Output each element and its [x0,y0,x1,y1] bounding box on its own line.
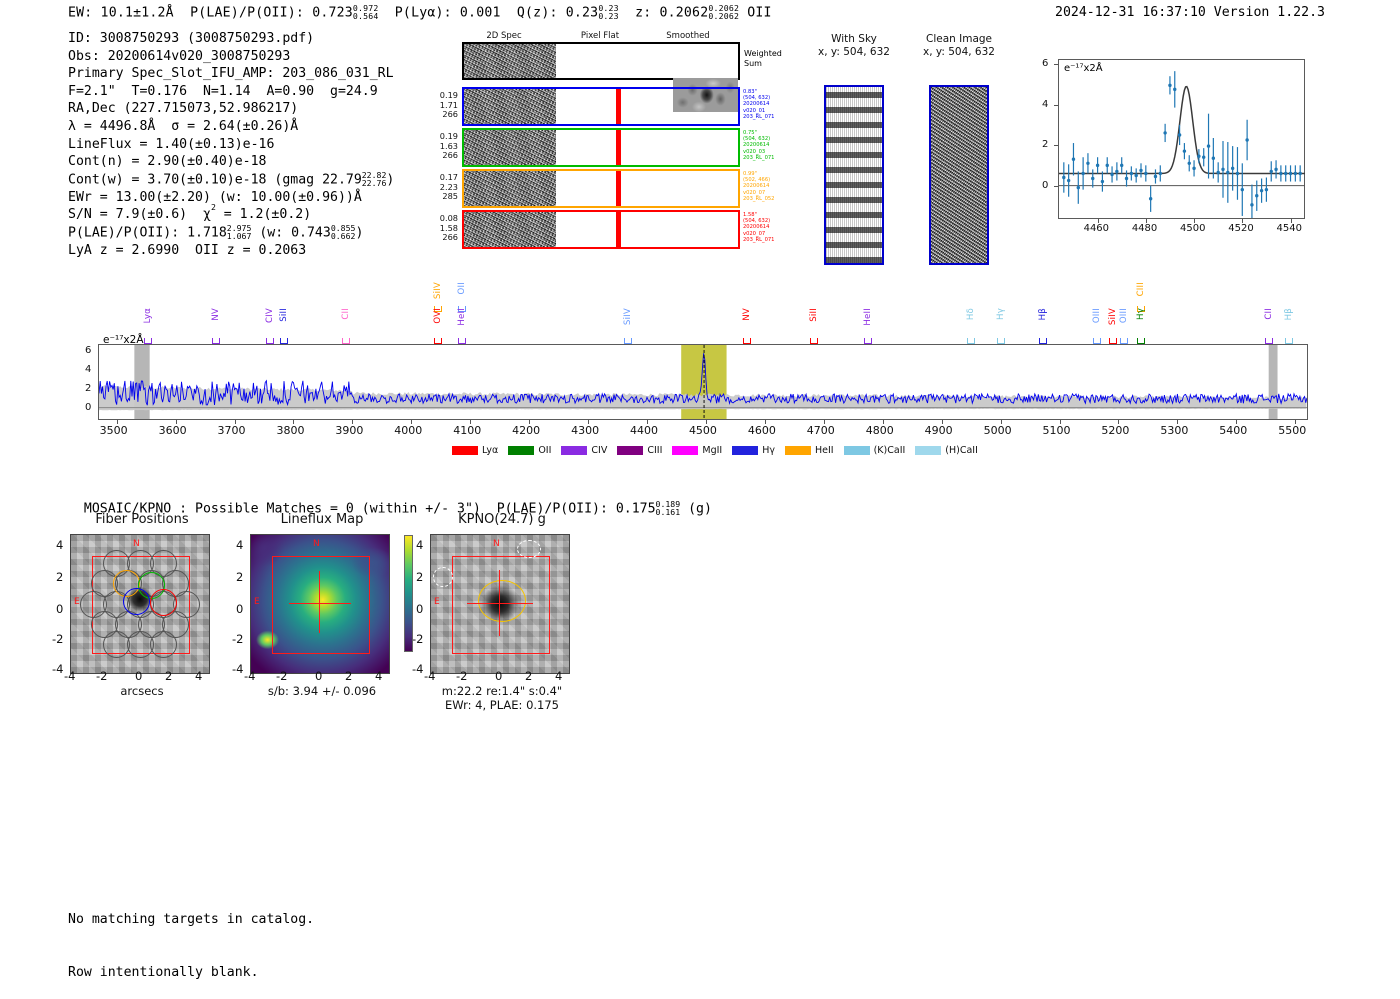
footer-line-2: Row intentionally blank. [68,964,314,982]
spectrum-line-label: Hγ [1136,308,1146,320]
cutout-with-sky: With Sky x, y: 504, 632 [812,33,896,238]
spec2d-col-header-smoothed: Smoothed [648,31,728,41]
spectrum-x-tick: 5300 [1160,424,1188,437]
legend-item: HeII [785,445,834,456]
spectrum-line-label: SiIV [1108,308,1118,325]
fiber-positions-image: N E [70,534,210,674]
spectrum-line-label: OVI [433,308,443,324]
panel-fiber-positions: Fiber Positions N E -4 -2 0 2 4 4 2 0 -2… [52,512,232,527]
spec2d-row-values: 0.191.63266 [430,132,458,161]
zoom-x-tickmark [1146,219,1147,223]
row-red-marker [616,89,621,124]
fiber-x-tick-4: 4 [195,669,202,683]
spec2d-fiber-row: 0.191.712660.83" (504, 632) 20200614 v02… [430,87,760,128]
fiber-xlabel: arcsecs [52,684,232,698]
lineflux-colorbar [404,535,413,652]
legend-item: (H)CaII [915,445,978,456]
lf-x-tick--4: -4 [244,669,255,683]
spectrum-x-tickmark [1060,420,1061,424]
legend-item: Hγ [732,445,775,456]
row-2dspec [464,89,556,124]
spectrum-x-tick: 4200 [512,424,540,437]
spec2d-row-metadata: 0.83" (504, 632) 20200614 v020_01 203_RL… [743,89,775,120]
legend-swatch [508,446,534,455]
spectrum-line-label: SiIV [433,282,443,299]
spectrum-x-tickmark [706,420,707,424]
emission-line-zoom-plot: e⁻¹⁷x2Å 0246 44604480450045204540 [1040,55,1305,255]
fiber-circle-highlighted [150,589,177,616]
legend-swatch [452,446,478,455]
legend-swatch [617,446,643,455]
spectrum-x-tickmark [235,420,236,424]
kpno-x-tick-2: 2 [525,669,532,683]
spectrum-line-label: OII [457,282,467,294]
spectrum-x-tickmark [117,420,118,424]
legend-swatch [915,446,941,455]
spectrum-x-tick: 3800 [276,424,304,437]
row-pixelflat [556,165,673,167]
spectrum-x-tickmark [588,420,589,424]
kpno-mask-ellipse-1 [517,540,541,558]
param-id: ID: 3008750293 (3008750293.pdf) [68,30,394,48]
kpno-aperture-ellipse [478,580,526,622]
kpno-y-tick--4: -4 [412,662,423,676]
fiber-positions-title: Fiber Positions [52,512,232,527]
cutout-clean-image-img [929,85,989,265]
fiber-y-tick-4: 4 [56,538,63,552]
cutout-clean-title: Clean Image [914,33,1004,46]
fiber-y-tick--4: -4 [52,662,63,676]
legend-label: HeII [815,445,834,456]
row-white-gap [630,89,634,124]
kpno-mask-ellipse-2 [433,567,453,587]
spectrum-x-tickmark [1118,420,1119,424]
weighted-sum-2dspec [464,44,556,78]
row-pixelflat [556,206,673,208]
header-plae-poii-range: 0.9720.564 [353,4,379,21]
kpno-cross-v [499,570,500,636]
weighted-sum-strip [462,42,740,80]
legend-label: CIV [591,445,607,456]
header-z: z: 0.2062 [635,5,708,20]
fiber-x-tick--4: -4 [64,669,75,683]
param-lineflux: LineFlux = 1.40(±0.13)e-16 [68,136,394,154]
spectrum-x-tick: 4300 [571,424,599,437]
compass-e-lineflux: E [254,597,260,607]
kpno-y-tick-2: 2 [416,570,423,584]
weighted-sum-pixelflat [556,44,673,78]
legend-swatch [732,446,758,455]
lf-x-tick-0: 0 [315,669,322,683]
compass-e-kpno: E [434,597,440,607]
fiber-circle [103,631,130,658]
spec2d-col-header-pixelflat: Pixel Flat [560,31,640,41]
lf-y-tick--4: -4 [232,662,243,676]
spectrum-x-tickmark [765,420,766,424]
spectrum-line-label: Hγ [996,308,1006,320]
lineflux-redbox [272,556,370,654]
spec2d-row-values: 0.191.71266 [430,91,458,120]
kpno-x-tick-4: 4 [555,669,562,683]
legend-label: (K)CaII [874,445,906,456]
zoom-y-tick: 0 [1042,180,1048,191]
lf-x-tick--2: -2 [276,669,287,683]
compass-n-lineflux: N [313,539,320,549]
legend-item: OII [508,445,551,456]
spec2d-row-value: 285 [430,192,458,202]
fiber-x-tick-2: 2 [165,669,172,683]
row-white-gap [630,212,634,247]
param-lambda-sigma: λ = 4496.8Å σ = 2.64(±0.26)Å [68,118,394,136]
spectrum-x-tick: 4800 [866,424,894,437]
spectrum-x-tick: 4600 [748,424,776,437]
legend-item: CIV [561,445,607,456]
spectrum-x-tickmark [470,420,471,424]
zoom-y-tickmark [1054,186,1058,187]
spectrum-line-label: CIII [1136,282,1146,296]
spectrum-y-tick: 2 [85,383,91,394]
spectrum-x-tickmark [529,420,530,424]
spectrum-x-tick: 3700 [218,424,246,437]
header-plya: P(Lyα): 0.001 [395,5,501,20]
legend-label: MgII [702,445,722,456]
zoom-x-tick: 4480 [1132,223,1157,234]
fiber-y-tick--2: -2 [52,632,63,646]
kpno-image: N E [430,534,570,674]
spectrum-line-label: OIII [1092,308,1102,323]
spectrum-x-tick: 5100 [1043,424,1071,437]
spectrum-x-tick: 3500 [100,424,128,437]
lf-x-tick-2: 2 [345,669,352,683]
spec2d-fiber-row: 0.191.632660.75" (504, 632) 20200614 v02… [430,128,760,169]
spectrum-line-label: Hβ [1038,308,1048,320]
panel-lineflux-map: Lineflux Map N E -4 -2 0 2 4 4 2 0 -2 -4… [232,512,412,527]
spectrum-line-label: CII [1264,308,1274,320]
row-white-gap [630,130,634,165]
spectrum-x-tick: 4000 [394,424,422,437]
zoom-x-tick: 4460 [1084,223,1109,234]
row-2dspec [464,212,556,247]
row-red-marker [616,130,621,165]
param-ewr: EWr = 13.00(±2.20) (w: 10.00(±0.96))Å [68,189,394,207]
lineflux-cross-v [319,571,320,633]
spectrum-x-tick: 4100 [453,424,481,437]
legend-item: (K)CaII [844,445,906,456]
spec2d-row-metadata: 0.75" (504, 632) 20200614 v020_03 203_RL… [743,130,775,161]
spectrum-x-tickmark [293,420,294,424]
legend-label: Hγ [762,445,775,456]
spec2d-fiber-row: 0.081.582661.58" (504, 632) 20200614 v02… [430,210,760,251]
spec2d-row-values: 0.081.58266 [430,214,458,243]
kpno-x-tick--4: -4 [424,669,435,683]
spectrum-x-tickmark [1001,420,1002,424]
footer-note: No matching targets in catalog. Row inte… [68,876,314,999]
zoom-x-tickmark [1242,219,1243,223]
legend-label: CIII [647,445,662,456]
legend-label: Lyα [482,445,498,456]
header-qz: Q(z): 0.23 [517,5,598,20]
spectrum-x-tickmark [1236,420,1237,424]
spectrum-line-label: Hδ [966,308,976,320]
spectrum-x-tickmark [942,420,943,424]
param-cont-n: Cont(n) = 2.90(±0.40)e-18 [68,153,394,171]
param-primary-spec: Primary Spec_Slot_IFU_AMP: 203_086_031_R… [68,65,394,83]
footer-line-1: No matching targets in catalog. [68,911,314,929]
spectrum-x-tick: 4700 [807,424,835,437]
param-redshifts: LyA z = 2.6990 OII z = 0.2063 [68,242,394,260]
spectrum-x-tick: 5200 [1101,424,1129,437]
compass-n-fiber: N [133,539,140,549]
row-2dspec [464,171,556,206]
spec2d-col-header-2dspec: 2D Spec [458,31,550,41]
compass-e-fiber: E [74,597,80,607]
zoom-y-tickmark [1054,64,1058,65]
spec2d-fiber-row: 0.172.232850.99" (502, 466) 20200614 v02… [430,169,760,210]
param-sn-chi2: S/N = 7.9(±0.6) χ2 = 1.2(±0.2) [68,206,394,224]
spectrum-x-tickmark [411,420,412,424]
spectrum-x-tick: 5400 [1219,424,1247,437]
param-plae-poii: P(LAE)/P(OII): 1.7182.9751.067 (w: 0.743… [68,224,394,242]
spectrum-canvas [99,345,1307,419]
zoom-y-tick: 4 [1042,99,1048,110]
lf-y-tick--2: -2 [232,632,243,646]
fiber-circle-highlighted [123,588,150,615]
legend-item: Lyα [452,445,498,456]
spectrum-line-label: SiII [809,308,819,322]
parameter-block: ID: 3008750293 (3008750293.pdf) Obs: 202… [68,30,394,259]
spectrum-x-tick: 4500 [689,424,717,437]
row-white-gap [630,171,634,206]
spectrum-y-tick: 4 [85,364,91,375]
spectrum-line-label: Lyα [143,308,153,323]
spec2d-row-image [462,210,740,249]
fiber-x-tick--2: -2 [96,669,107,683]
spectrum-legend: LyαOIICIVCIIIMgIIHγHeII(K)CaII(H)CaII [452,445,978,456]
spectrum-x-tickmark [1295,420,1296,424]
lf-y-tick-0: 0 [236,602,243,616]
spectrum-x-tickmark [824,420,825,424]
legend-swatch [561,446,587,455]
spectrum-x-tick: 3900 [335,424,363,437]
spectrum-line-label: CIV [265,308,275,323]
spectrum-x-tick: 5500 [1278,424,1306,437]
kpno-x-tick-0: 0 [495,669,502,683]
spectrum-line-label: NV [211,308,221,321]
spectrum-y-tick: 6 [85,345,91,356]
spectrum-x-tick: 4900 [925,424,953,437]
header-summary: EW: 10.1±1.2Å P(LAE)/P(OII): 0.7230.9720… [68,4,772,21]
kpno-y-tick--2: -2 [412,632,423,646]
row-red-marker [616,171,621,206]
spec2d-row-value: 266 [430,151,458,161]
compass-n-kpno: N [493,539,500,549]
spectrum-x-tickmark [883,420,884,424]
lineflux-map-title: Lineflux Map [232,512,412,527]
spec2d-row-value: 266 [430,233,458,243]
lf-y-tick-2: 2 [236,570,243,584]
kpno-sublabel-2: EWr: 4, PLAE: 0.175 [412,698,592,712]
spec2d-row-metadata: 1.58" (504, 632) 20200614 v020_07 203_RL… [743,212,775,243]
header-qz-range: 0.230.23 [598,4,618,21]
legend-label: (H)CaII [945,445,978,456]
full-spectrum-plot: LyαNVCIVSiIICIISiIVOVIOIIHeIISiIVNVSiIIH… [98,278,1308,468]
legend-label: OII [538,445,551,456]
row-pixelflat [556,247,673,249]
zoom-y-tickmark [1054,105,1058,106]
spectrum-x-tick: 5000 [984,424,1012,437]
zoom-x-tick: 4500 [1180,223,1205,234]
kpno-x-tick--2: -2 [456,669,467,683]
spec2d-row-value: 266 [430,110,458,120]
zoom-x-tick: 4540 [1277,223,1302,234]
spectrum-line-label: HeII [457,308,467,326]
timestamp-version: 2024-12-31 16:37:10 Version 1.22.3 [1055,5,1325,20]
spectrum-line-label: OIII [1119,308,1129,323]
lf-x-tick-4: 4 [375,669,382,683]
row-pixelflat [556,124,673,126]
row-red-marker [616,212,621,247]
legend-swatch [785,446,811,455]
spec2d-row-image [462,128,740,167]
spec2d-row-image [462,169,740,208]
lf-y-tick-4: 4 [236,538,243,552]
zoom-x-tickmark [1291,219,1292,223]
cutout-with-sky-image [824,85,884,265]
kpno-sublabel-1: m:22.2 re:1.4" s:0.4" [412,684,592,698]
zoom-plot-canvas [1059,60,1305,218]
legend-item: MgII [672,445,722,456]
legend-item: CIII [617,445,662,456]
legend-swatch [672,446,698,455]
zoom-y-tick: 6 [1042,58,1048,69]
fiber-x-tick-0: 0 [135,669,142,683]
spec2d-row-metadata: 0.99" (502, 466) 20200614 v020_07 203_RL… [743,171,775,202]
param-radec: RA,Dec (227.715073,52.986217) [68,100,394,118]
spectrum-line-label: HeII [863,308,873,326]
fiber-y-tick-2: 2 [56,570,63,584]
zoom-x-tick: 4520 [1228,223,1253,234]
kpno-title: KPNO(24.7) g [412,512,592,527]
zoom-x-tickmark [1098,219,1099,223]
cutout-clean-image: Clean Image x, y: 504, 632 [914,33,1004,238]
spectrum-x-tick: 3600 [159,424,187,437]
spectrum-y-tick: 0 [85,402,91,413]
zoom-x-tickmark [1194,219,1195,223]
spectrum-line-label: SiII [279,308,289,322]
kpno-y-tick-0: 0 [416,602,423,616]
spectrum-line-label: Hβ [1284,308,1294,320]
spec2d-row-values: 0.172.23285 [430,173,458,202]
spec2d-row-image [462,87,740,126]
spectrum-x-tick: 4400 [630,424,658,437]
spectrum-x-tickmark [352,420,353,424]
spec2d-composite: 2D Spec Pixel Flat Smoothed Weighted Sum… [430,31,760,256]
header-plae-poii: P(LAE)/P(OII): 0.723 [190,5,353,20]
fiber-circle [150,631,177,658]
spectrum-x-tickmark [176,420,177,424]
weighted-sum-label: Weighted Sum [744,49,782,68]
cutout-with-sky-coords: x, y: 504, 632 [812,46,896,59]
lineflux-sublabel: s/b: 3.94 +/- 0.096 [232,684,412,698]
param-seeing: F=2.1" T=0.176 N=1.14 A=0.90 g=24.9 [68,83,394,101]
zoom-y-tickmark [1054,145,1058,146]
spectrum-line-label: NV [742,308,752,321]
header-z-type: OII [747,5,771,20]
spectrum-line-label: CII [341,308,351,320]
kpno-y-tick-4: 4 [416,538,423,552]
cutout-with-sky-title: With Sky [812,33,896,46]
panel-kpno: KPNO(24.7) g N E -4 -2 0 2 4 4 2 0 -2 -4… [412,512,592,527]
param-obs: Obs: 20200614v020_3008750293 [68,48,394,66]
lineflux-map-image: N E [250,534,390,674]
spectrum-line-label: SiIV [623,308,633,325]
row-2dspec [464,130,556,165]
header-z-range: 0.20620.2062 [708,4,739,21]
param-cont-w: Cont(w) = 3.70(±0.10)e-18 (gmag 22.7922.… [68,171,394,189]
zoom-y-tick: 2 [1042,139,1048,150]
header-ew: EW: 10.1±1.2Å [68,5,174,20]
spectrum-x-tickmark [1177,420,1178,424]
legend-swatch [844,446,870,455]
cutout-clean-coords: x, y: 504, 632 [914,46,1004,59]
spectrum-x-tickmark [647,420,648,424]
fiber-y-tick-0: 0 [56,602,63,616]
